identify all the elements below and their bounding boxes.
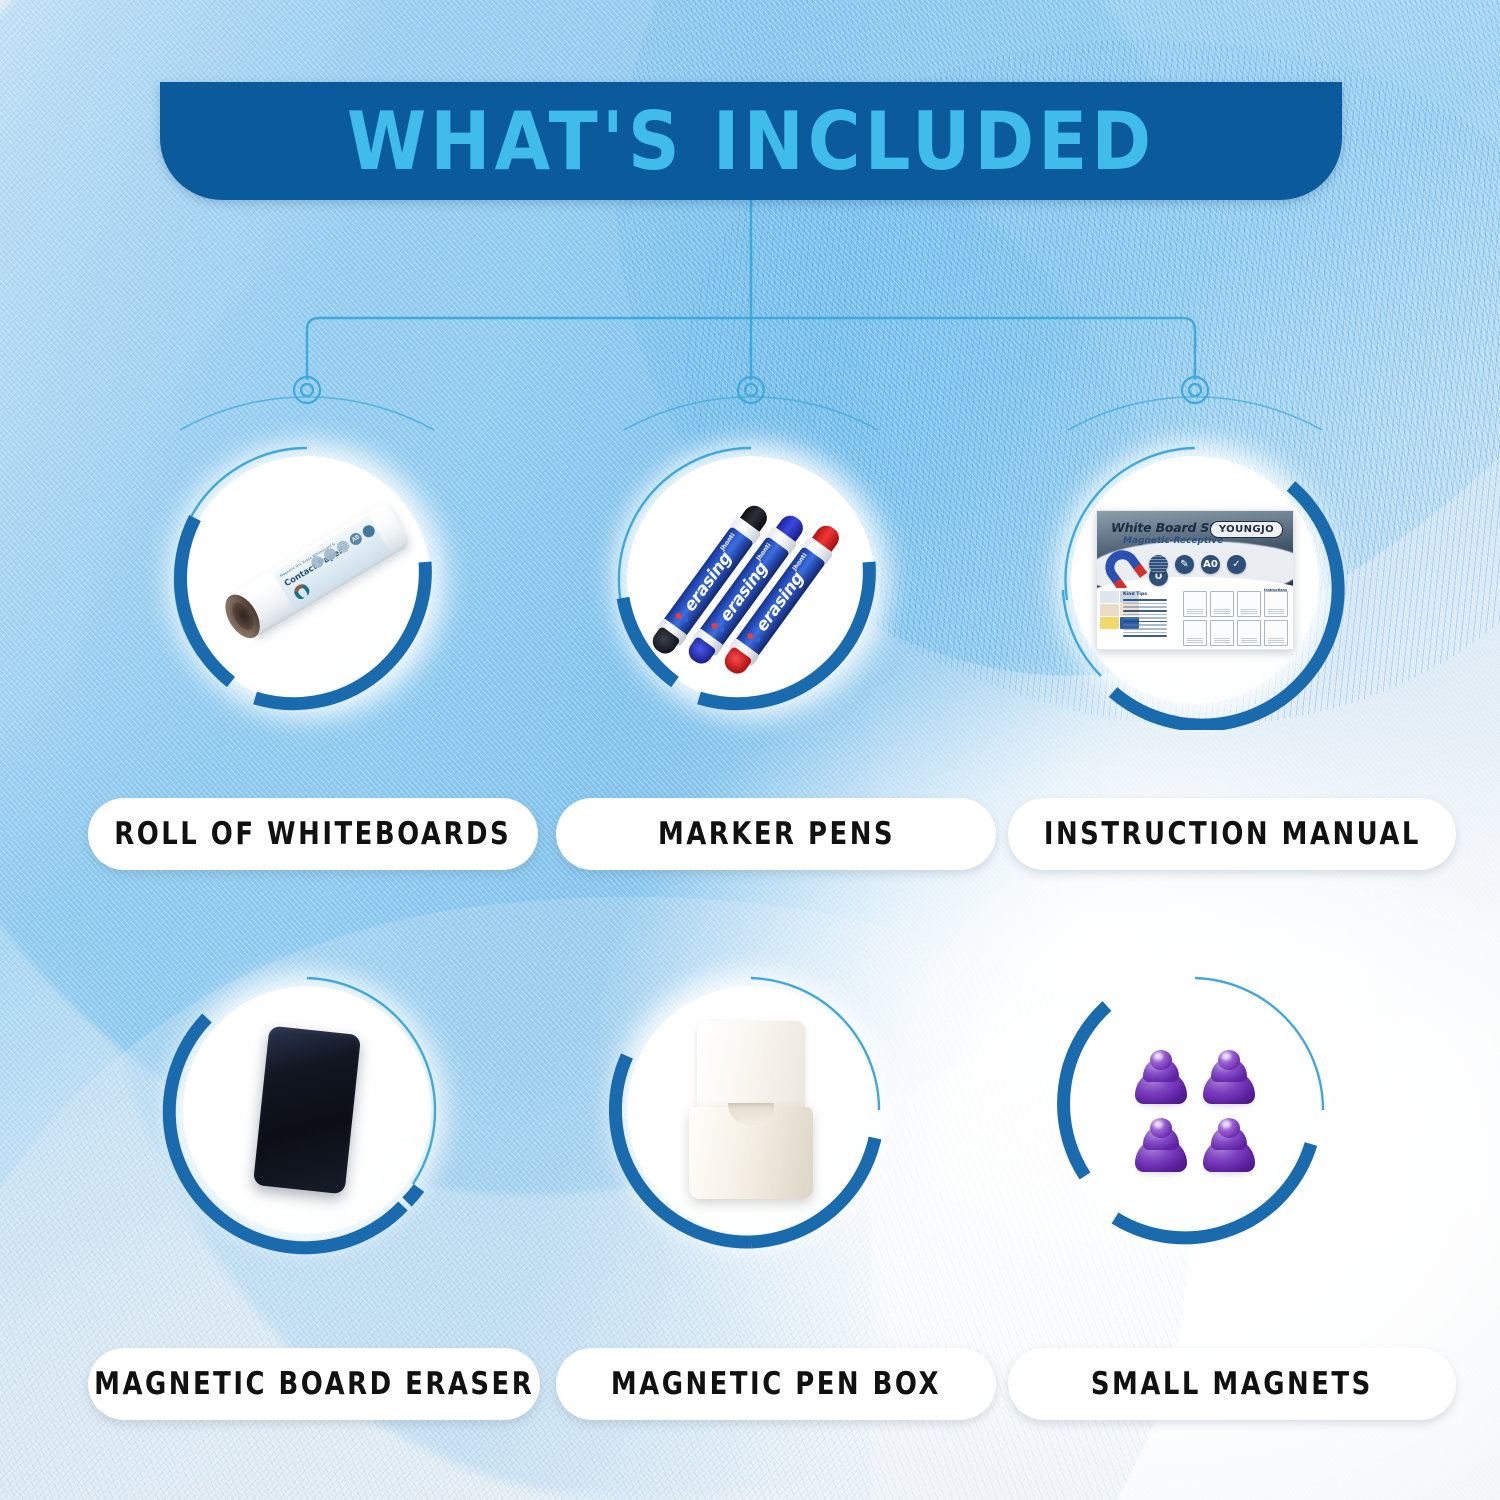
- ring-thick-arc-2: [407, 1188, 419, 1202]
- product-art-instruction-manual: White Board Sticker Magnetic-Receptive Y…: [1071, 456, 1319, 704]
- item-medallion-instruction-manual[interactable]: White Board Sticker Magnetic-Receptive Y…: [1045, 430, 1345, 730]
- swatch: [1100, 617, 1119, 629]
- item-medallion-marker-pens[interactable]: Jhonti erasing Jhonti erasing: [601, 430, 901, 730]
- label-pill-magnetic-pen-box: MAGNETIC PEN BOX: [556, 1348, 996, 1420]
- label-pill-roll-of-whiteboards: ROLL OF WHITEBOARDS: [88, 798, 538, 870]
- roll-label: Magnetic Dry Erase Whiteboard & Contact …: [272, 515, 391, 610]
- step-cell: [1264, 620, 1288, 646]
- item-label-magnetic-pen-box: MAGNETIC PEN BOX: [611, 1366, 941, 1401]
- sheet-feature-icons: U ✎ A0 ✓: [1149, 555, 1246, 586]
- swatch: [1100, 604, 1119, 616]
- product-art-magnets: [1071, 986, 1319, 1234]
- sheet-body: Kind Tips Instructions: [1097, 588, 1293, 649]
- magnet-icon: [1201, 1048, 1257, 1104]
- step-cell: [1183, 591, 1207, 617]
- step-cell: [1183, 620, 1207, 646]
- feature-icon-grid: [335, 538, 351, 554]
- product-art-marker-pens: Jhonti erasing Jhonti erasing: [627, 456, 875, 704]
- roll-feature-icons: A0: [309, 523, 377, 570]
- product-art-eraser: [183, 986, 431, 1234]
- product-art-pen-box: [627, 986, 875, 1234]
- header-banner: WHAT'S INCLUDED: [160, 82, 1342, 200]
- item-label-marker-pens: MARKER PENS: [657, 816, 894, 851]
- step-cell: [1237, 591, 1261, 617]
- label-pill-magnetic-board-eraser: MAGNETIC BOARD ERASER: [88, 1348, 540, 1420]
- item-medallion-magnetic-board-eraser[interactable]: [157, 960, 457, 1260]
- infographic-canvas: WHAT'S INCLUDED: [0, 0, 1500, 1500]
- magnets-icon-group: [1133, 1048, 1257, 1172]
- item-label-roll-of-whiteboards: ROLL OF WHITEBOARDS: [115, 816, 512, 851]
- item-label-small-magnets: SMALL MAGNETS: [1091, 1366, 1373, 1401]
- step-cell: [1210, 620, 1234, 646]
- sheet-tips-text: [1123, 599, 1167, 639]
- instruction-sheet-icon: White Board Sticker Magnetic-Receptive Y…: [1096, 510, 1294, 650]
- product-art-whiteboard-roll: Magnetic Dry Erase Whiteboard & Contact …: [183, 456, 431, 704]
- feature-icon-size: A0: [348, 531, 364, 547]
- item-medallion-small-magnets[interactable]: [1045, 960, 1345, 1260]
- brand-logo: YOUNGJO: [1210, 521, 1283, 538]
- magnet-icon: [1133, 1116, 1189, 1172]
- step-cell: [1237, 620, 1261, 646]
- swatch: [1100, 591, 1119, 603]
- magnet-icon: [291, 581, 311, 601]
- item-medallion-magnetic-pen-box[interactable]: [601, 960, 901, 1260]
- page-title: WHAT'S INCLUDED: [347, 101, 1155, 182]
- item-medallion-roll-of-whiteboards[interactable]: Magnetic Dry Erase Whiteboard & Contact …: [157, 430, 457, 730]
- board-eraser-icon: [253, 1026, 361, 1195]
- feature-icon-check: [360, 523, 376, 539]
- feature-icon-size: A0: [1201, 555, 1220, 574]
- feature-icon-grid: [1149, 555, 1168, 574]
- sheet-subtitle: Magnetic-Receptive: [1123, 536, 1223, 546]
- item-label-instruction-manual: INSTRUCTION MANUAL: [1043, 816, 1420, 851]
- marker-pens-icon: Jhonti erasing Jhonti erasing: [651, 480, 851, 680]
- feature-icon-write: ✎: [1175, 555, 1194, 574]
- sheet-step-grid: [1183, 591, 1288, 646]
- item-label-magnetic-board-eraser: MAGNETIC BOARD ERASER: [94, 1366, 534, 1401]
- items-grid: Magnetic Dry Erase Whiteboard & Contact …: [0, 0, 1500, 1500]
- magnet-icon: [1133, 1048, 1189, 1104]
- label-pill-small-magnets: SMALL MAGNETS: [1008, 1348, 1456, 1420]
- whiteboard-roll-icon: Magnetic Dry Erase Whiteboard & Contact …: [218, 501, 412, 645]
- label-pill-instruction-manual: INSTRUCTION MANUAL: [1008, 798, 1456, 870]
- step-cell: [1264, 591, 1288, 617]
- sheet-tips-title: Kind Tips: [1123, 592, 1147, 597]
- magnet-icon: [1201, 1116, 1257, 1172]
- pen-box-icon: [689, 1021, 813, 1199]
- feature-icon-check: ✓: [1227, 555, 1246, 574]
- step-cell: [1210, 591, 1234, 617]
- label-pill-marker-pens: MARKER PENS: [556, 798, 996, 870]
